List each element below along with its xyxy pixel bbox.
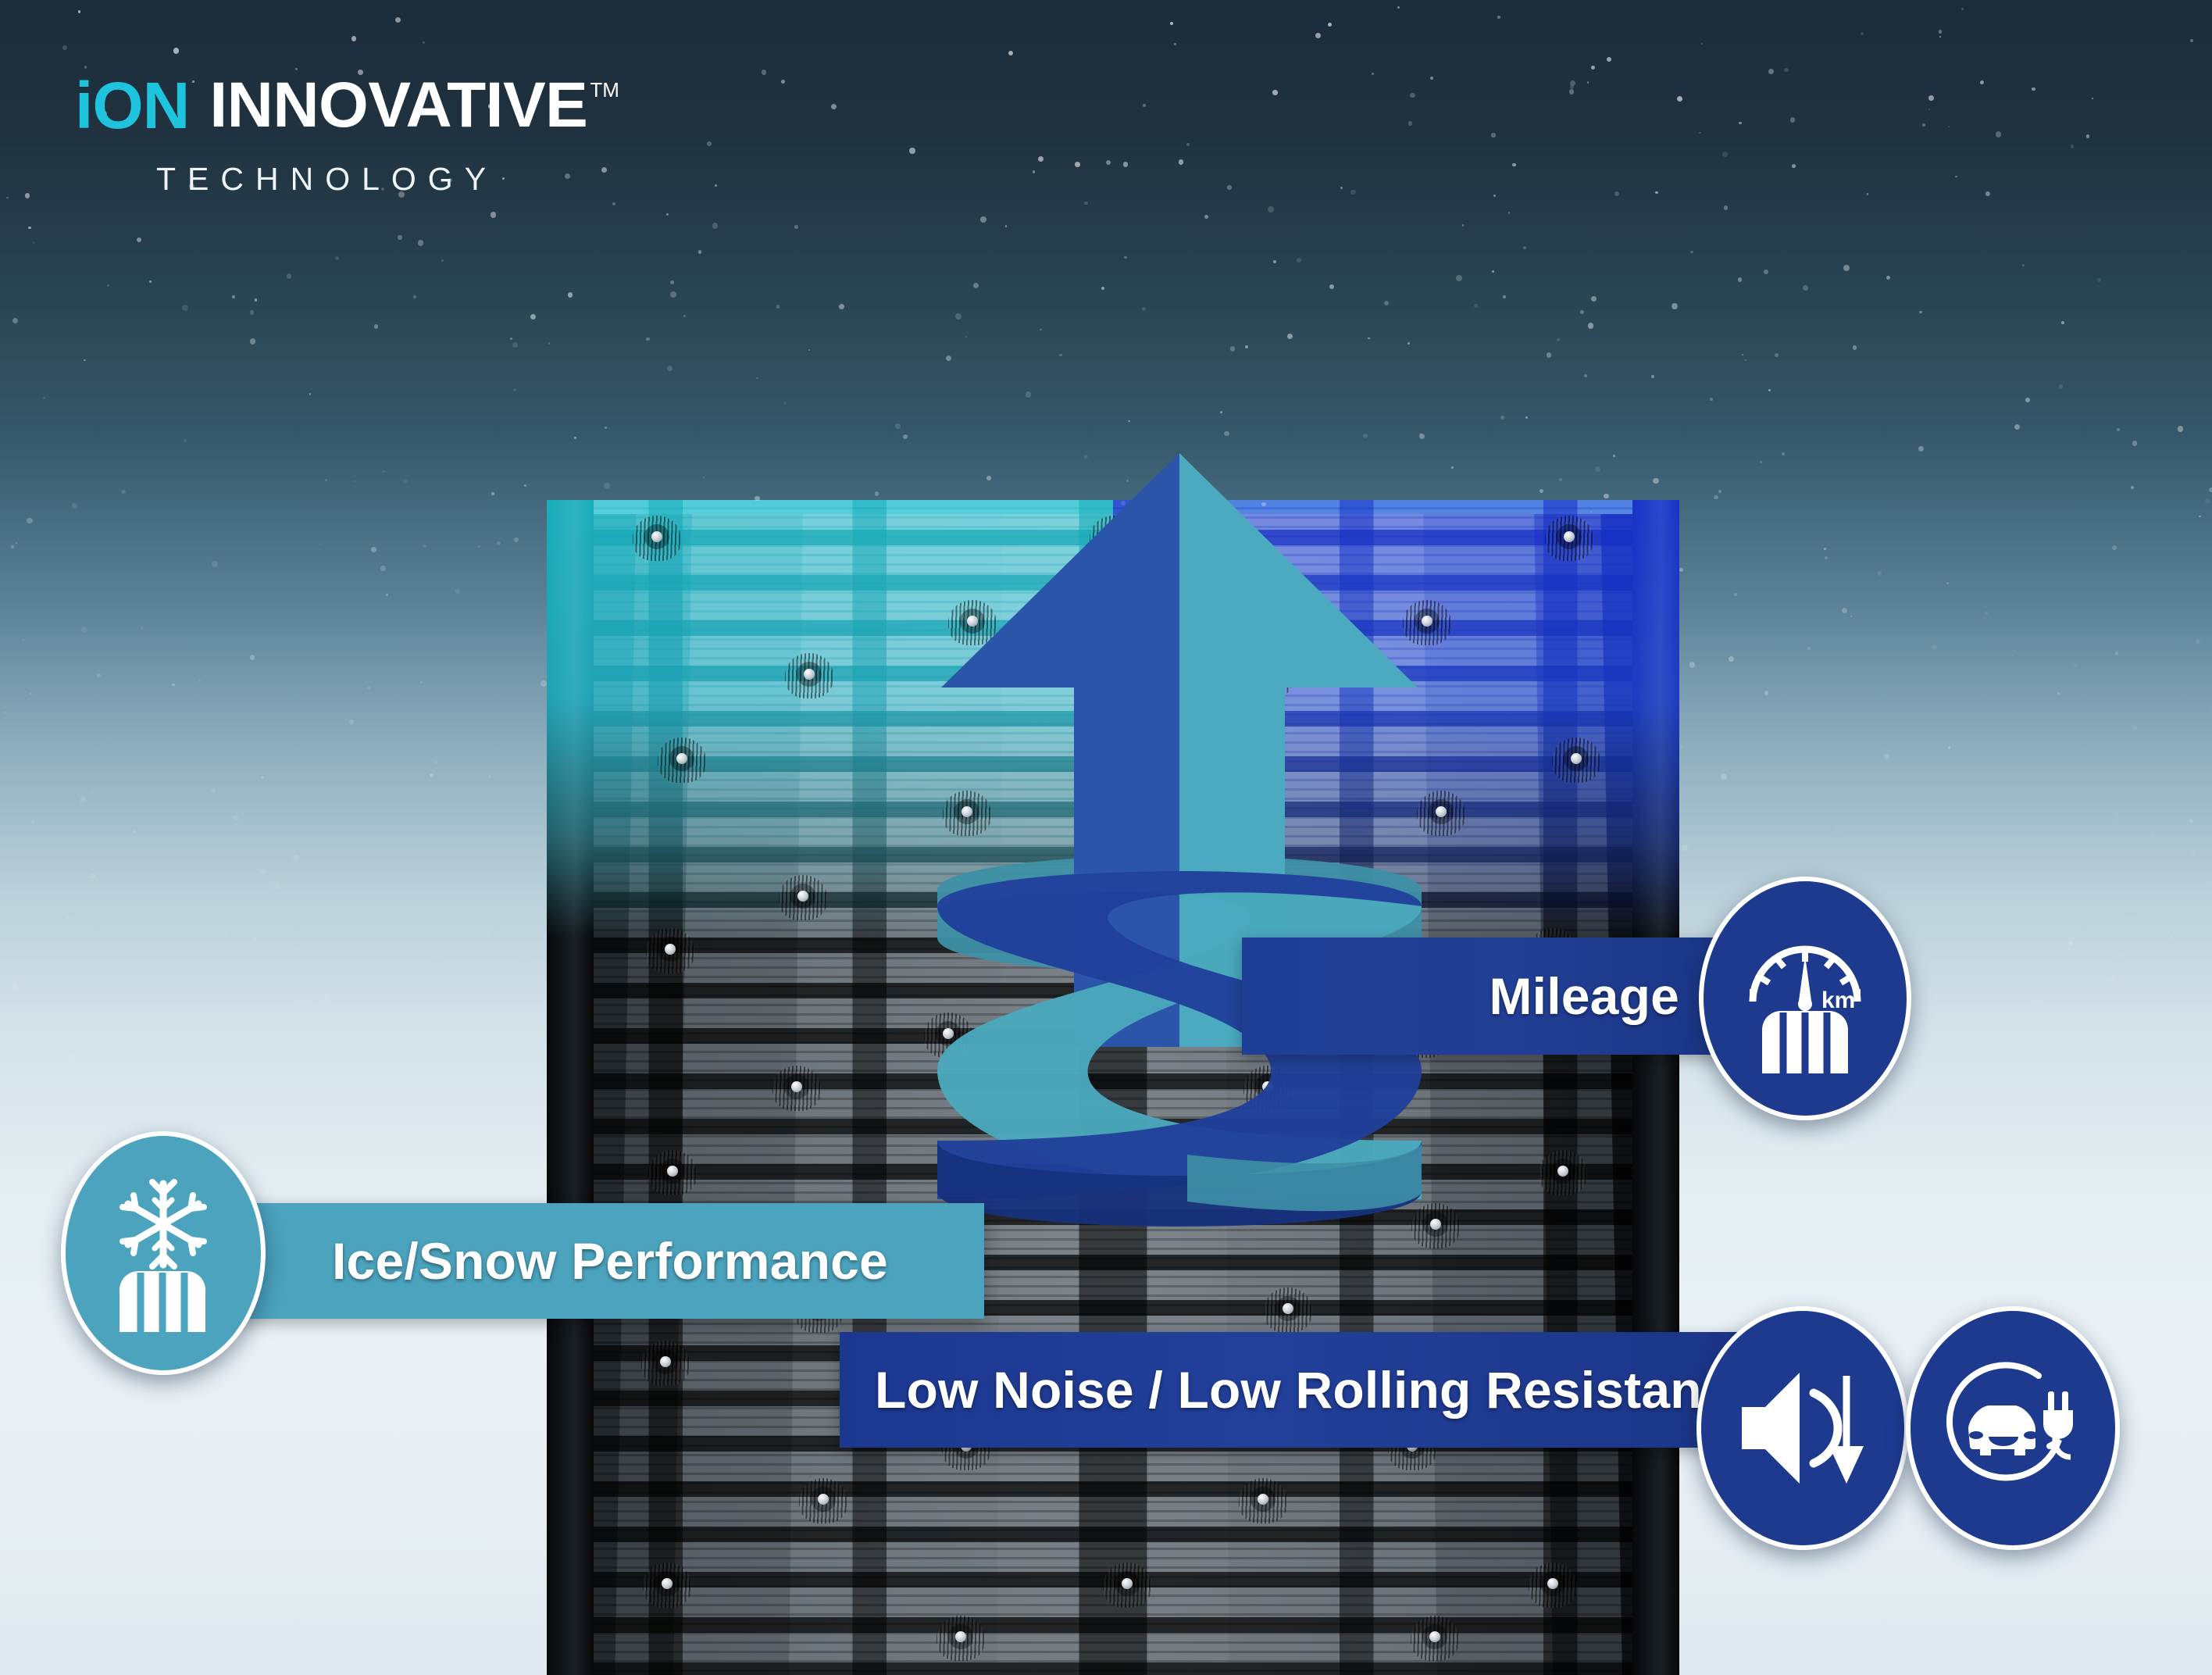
promo-poster: Mileage km (0, 0, 2212, 1675)
speedometer-tire-icon: km (1739, 920, 1871, 1077)
feature-badge-low-noise[interactable] (1696, 1306, 1909, 1550)
brand-logo-row: iON INNOVATIVE TM (75, 75, 619, 137)
feature-badge-ev-ready[interactable] (1906, 1306, 2120, 1550)
feature-label-mileage: Mileage (1490, 966, 1680, 1026)
feature-bar-mileage[interactable]: Mileage (1242, 937, 1742, 1055)
ev-car-plug-icon (1939, 1354, 2087, 1502)
mileage-unit-text: km (1821, 987, 1855, 1013)
speaker-down-arrow-icon (1732, 1362, 1873, 1495)
feature-label-ice-snow: Ice/Snow Performance (332, 1231, 888, 1291)
brand-tagline: TECHNOLOGY (156, 161, 619, 198)
brand-logo-innovative: INNOVATIVE (209, 75, 587, 136)
brand-logo: iON INNOVATIVE TM TECHNOLOGY (75, 75, 619, 198)
growth-arrow-helix-graphic (906, 437, 1453, 1312)
feature-badge-ice-snow[interactable] (61, 1131, 266, 1375)
feature-label-low-noise: Low Noise / Low Rolling Resistance (875, 1360, 1760, 1420)
feature-bar-low-noise[interactable]: Low Noise / Low Rolling Resistance (840, 1332, 1773, 1448)
feature-badge-mileage[interactable]: km (1699, 877, 1911, 1120)
feature-bar-ice-snow[interactable]: Ice/Snow Performance (152, 1203, 984, 1319)
snowflake-tire-icon (99, 1171, 228, 1335)
trademark-symbol: TM (590, 80, 619, 100)
brand-logo-ion: iON (75, 75, 189, 137)
